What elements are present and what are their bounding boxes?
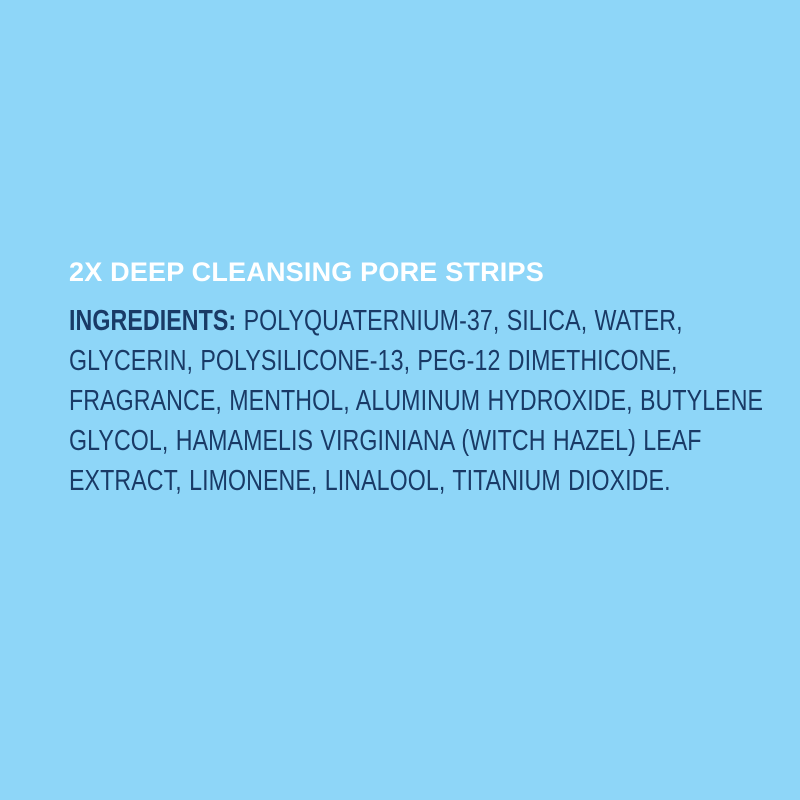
ingredients-panel: 2X DEEP CLEANSING PORE STRIPS INGREDIENT… xyxy=(0,0,800,800)
ingredients-label: INGREDIENTS: xyxy=(69,305,236,337)
ingredients-paragraph: INGREDIENTS: POLYQUATERNIUM-37, SILICA, … xyxy=(69,301,773,501)
product-title: 2X DEEP CLEANSING PORE STRIPS xyxy=(69,256,749,288)
content-block: 2X DEEP CLEANSING PORE STRIPS INGREDIENT… xyxy=(69,256,749,501)
